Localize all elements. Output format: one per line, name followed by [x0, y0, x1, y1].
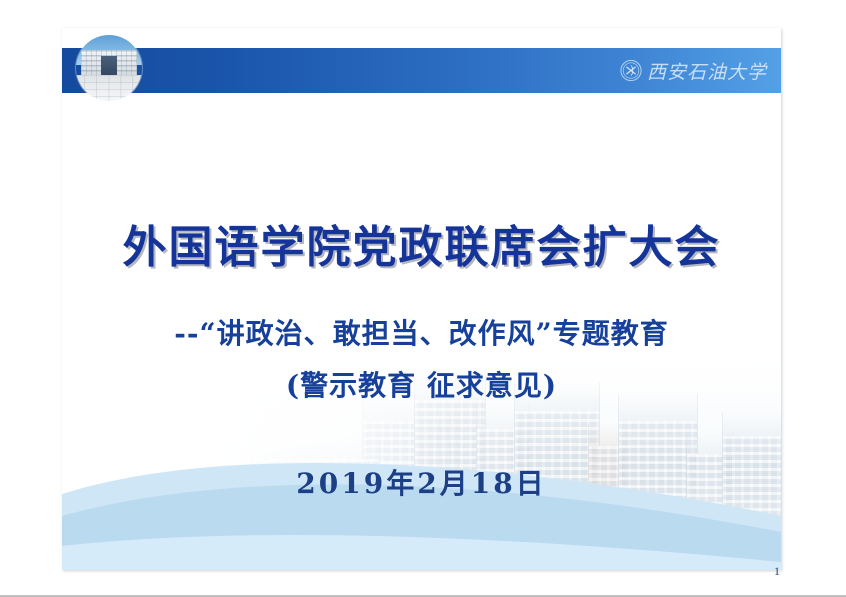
campus-photo-badge-icon — [76, 35, 142, 101]
slide-header-bar: 西安石油大学 — [62, 48, 781, 93]
university-logo: 西安石油大学 — [620, 57, 767, 84]
badge-plaza — [76, 75, 142, 101]
slide-date: 2019年2月18日 — [62, 462, 781, 502]
slide-subtitle: --“讲政治、敢担当、改作风”专题教育 — [62, 312, 781, 352]
slide-title: 外国语学院党政联席会扩大会 — [62, 211, 781, 275]
badge-building — [81, 50, 138, 78]
page-number: 1 — [774, 564, 780, 579]
slide-viewer: 西安石油大学 外国语学院党政联席会扩大会 --“讲政治、敢担当、改作风”专题教育… — [0, 0, 846, 597]
slide-subtitle-secondary: (警示教育 征求意见) — [62, 364, 781, 404]
university-seal-icon — [620, 60, 642, 82]
university-name-text: 西安石油大学 — [647, 57, 767, 84]
presentation-slide: 西安石油大学 外国语学院党政联席会扩大会 --“讲政治、敢担当、改作风”专题教育… — [62, 28, 781, 570]
